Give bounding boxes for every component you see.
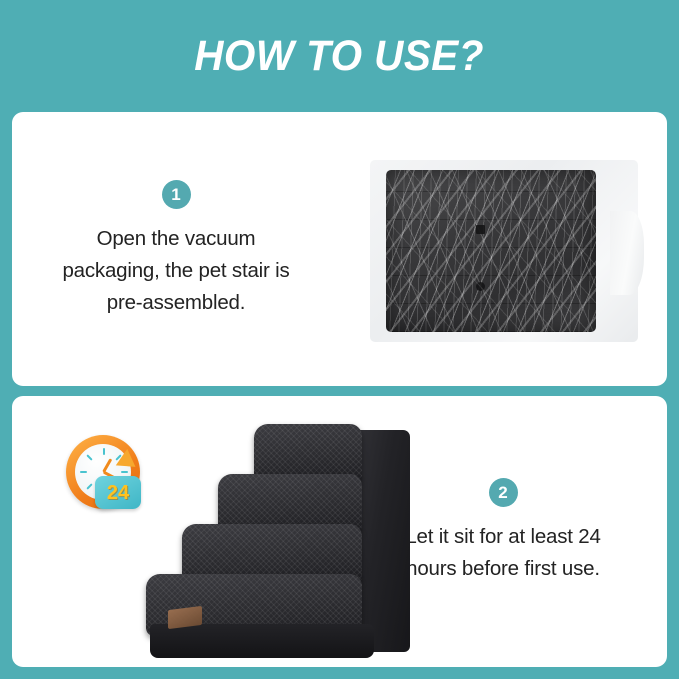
stair-front-panel <box>150 624 374 658</box>
page-title: HOW TO USE? <box>195 32 485 81</box>
pet-stair-image <box>142 412 410 660</box>
clock-tick <box>80 471 87 473</box>
step-1-description: Open the vacuum packaging, the pet stair… <box>51 223 301 319</box>
infographic-page: HOW TO USE? 1 Open the vacuum packaging,… <box>0 0 679 679</box>
step-1-layout: 1 Open the vacuum packaging, the pet sta… <box>12 112 667 386</box>
compressed-foam-block <box>386 170 596 332</box>
clock-badge-label: 24 <box>107 483 129 503</box>
clock-tick <box>86 483 92 489</box>
clock-tick <box>86 454 92 460</box>
step-2-number-badge: 2 <box>489 478 518 507</box>
step-1-text-column: 1 Open the vacuum packaging, the pet sta… <box>12 180 340 319</box>
step-1-image-column <box>340 112 667 386</box>
step-1-number-badge: 1 <box>162 180 191 209</box>
clock-24-badge: 24 <box>95 476 141 509</box>
package-print-mark <box>476 225 485 234</box>
clock-tick <box>103 448 105 455</box>
recycle-symbol-icon <box>476 282 485 291</box>
header: HOW TO USE? <box>0 0 679 112</box>
vacuum-pack-image <box>370 160 638 342</box>
step-card-1: 1 Open the vacuum packaging, the pet sta… <box>12 112 667 386</box>
step-2-description: Let it sit for at least 24 hours before … <box>378 521 628 585</box>
